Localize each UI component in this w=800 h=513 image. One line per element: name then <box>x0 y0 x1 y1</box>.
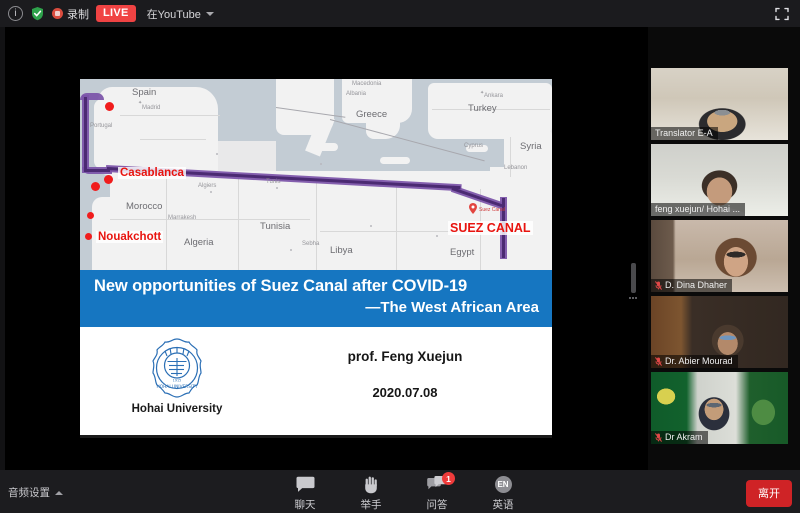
map-country-label: Cyprus <box>464 143 483 149</box>
map-country-label: Spain <box>132 87 156 98</box>
map-country-label: Portugal <box>90 123 112 129</box>
map-country-label: Algeria <box>184 237 214 248</box>
panel-drag-dots-icon[interactable] <box>629 297 638 299</box>
slide-bottom-rule <box>80 435 552 438</box>
qa-label: 问答 <box>418 497 456 512</box>
map-country-label: Tunis <box>266 179 280 185</box>
meeting-control-bar: 音频设置 聊天 <box>0 470 800 513</box>
map-city-marker <box>91 182 100 191</box>
slide-title-banner: New opportunities of Suez Canal after CO… <box>80 270 552 327</box>
map-city-marker <box>85 233 92 240</box>
shared-presentation-slide: Spain Portugal Morocco Algeria Tunisia L… <box>80 79 552 438</box>
presenter-block: prof. Feng Xuejun 2020.07.08 <box>295 349 515 400</box>
muted-microphone-icon <box>655 281 662 290</box>
youtube-label: 在YouTube <box>147 6 201 22</box>
control-tools-group: 聊天 举手 <box>286 474 522 512</box>
chevron-up-icon[interactable] <box>55 491 63 495</box>
participant-filmstrip: Translator E-A feng xuejun/ Hohai ... <box>651 68 788 448</box>
university-block: HOHAI UNIVERSITY 1915 Hohai University <box>118 337 236 415</box>
map-city-marker <box>104 175 113 184</box>
record-stop-icon[interactable] <box>52 8 63 19</box>
muted-microphone-icon <box>655 433 662 442</box>
chat-bubble-icon <box>286 474 324 495</box>
participant-name-label: Dr. Abier Mourad <box>651 355 738 368</box>
muted-microphone-icon <box>655 357 662 366</box>
map-country-label: Syria <box>520 141 542 152</box>
map-country-label: Morocco <box>126 201 162 212</box>
participant-name-text: Dr. Abier Mourad <box>665 356 733 366</box>
hohai-university-logo-icon: HOHAI UNIVERSITY 1915 <box>146 337 208 399</box>
map-country-label: Tunisia <box>260 221 290 232</box>
suez-route-map-image: Spain Portugal Morocco Algeria Tunisia L… <box>80 79 552 270</box>
participant-name-label: Dr Akram <box>651 431 708 444</box>
participant-name-text: D. Dina Dhaher <box>665 280 727 290</box>
map-country-label: Ankara <box>484 93 503 99</box>
stage-left-strip <box>0 27 5 470</box>
fullscreen-icon[interactable] <box>772 4 792 24</box>
participant-name-text: Translator E-A <box>655 128 713 138</box>
map-country-label: Libya <box>330 245 353 256</box>
map-country-label: Greece <box>356 109 387 120</box>
map-pin-label: Suez Canal <box>479 207 505 213</box>
map-country-label: Macedonia <box>352 81 381 87</box>
map-country-label: Egypt <box>450 247 474 258</box>
map-label-suez-canal: SUEZ CANAL <box>448 221 533 235</box>
university-name: Hohai University <box>118 403 236 415</box>
participant-name-label: feng xuejun/ Hohai ... <box>651 203 745 216</box>
presentation-date: 2020.07.08 <box>295 385 515 400</box>
interpretation-language-label: 英语 <box>484 497 522 512</box>
info-icon[interactable]: i <box>8 6 23 21</box>
map-pin-icon <box>469 201 476 211</box>
map-country-label: Sebha <box>302 241 319 247</box>
map-country-label: Marrakesh <box>168 215 196 221</box>
raise-hand-icon <box>352 474 390 495</box>
slide-subtitle: —The West African Area <box>94 297 539 319</box>
participant-tile[interactable]: Dr. Abier Mourad <box>651 296 788 368</box>
live-badge: LIVE <box>96 5 136 22</box>
participant-tile[interactable]: Translator E-A <box>651 68 788 140</box>
presenter-name: prof. Feng Xuejun <box>295 349 515 364</box>
qa-unread-badge: 1 <box>442 472 455 485</box>
svg-text:HOHAI UNIVERSITY: HOHAI UNIVERSITY <box>157 384 198 390</box>
panel-drag-handle[interactable] <box>631 263 636 293</box>
recording-indicator[interactable]: 录制 <box>52 6 89 22</box>
interpretation-language-button[interactable]: EN 英语 <box>484 474 522 512</box>
chevron-down-icon[interactable] <box>206 12 214 16</box>
slide-footer-area: HOHAI UNIVERSITY 1915 Hohai University p… <box>80 329 552 438</box>
leave-meeting-button[interactable]: 离开 <box>746 480 792 507</box>
map-city-marker <box>105 102 114 111</box>
language-en-icon: EN <box>484 474 522 495</box>
map-label-nouakchott: Nouakchott <box>96 231 163 243</box>
map-country-label: Lebanon <box>504 165 527 171</box>
chat-button[interactable]: 聊天 <box>286 474 324 512</box>
participant-name-text: Dr Akram <box>665 432 703 442</box>
map-city-marker <box>87 212 94 219</box>
raise-hand-button[interactable]: 举手 <box>352 474 390 512</box>
participant-tile-active-speaker[interactable]: feng xuejun/ Hohai ... <box>651 144 788 216</box>
encryption-shield-icon[interactable] <box>30 6 45 21</box>
shared-screen-stage: Spain Portugal Morocco Algeria Tunisia L… <box>0 27 648 470</box>
qa-button[interactable]: 1 问答 <box>418 474 456 512</box>
audio-settings-button[interactable]: 音频设置 <box>8 485 63 500</box>
youtube-stream-selector[interactable]: 在YouTube <box>147 6 214 22</box>
meeting-top-bar: i 录制 LIVE 在YouTube <box>0 0 800 27</box>
participant-tile[interactable]: Dr Akram <box>651 372 788 444</box>
slide-title-main: New opportunities of Suez Canal after CO… <box>94 275 539 297</box>
participant-name-label: D. Dina Dhaher <box>651 279 732 292</box>
map-country-label: Algiers <box>198 183 216 189</box>
audio-settings-label: 音频设置 <box>8 485 50 500</box>
map-country-label: Albania <box>346 91 366 97</box>
raise-hand-label: 举手 <box>352 497 390 512</box>
map-label-casablanca: Casablanca <box>118 167 186 179</box>
participant-tile[interactable]: D. Dina Dhaher <box>651 220 788 292</box>
participant-name-text: feng xuejun/ Hohai ... <box>655 204 740 214</box>
map-country-label: Turkey <box>468 103 497 114</box>
svg-text:1915: 1915 <box>173 379 182 383</box>
participant-name-label: Translator E-A <box>651 127 718 140</box>
chat-label: 聊天 <box>286 497 324 512</box>
recording-label: 录制 <box>67 6 89 22</box>
map-country-label: Madrid <box>142 105 160 111</box>
zoom-meeting-window: i 录制 LIVE 在YouTube <box>0 0 800 513</box>
